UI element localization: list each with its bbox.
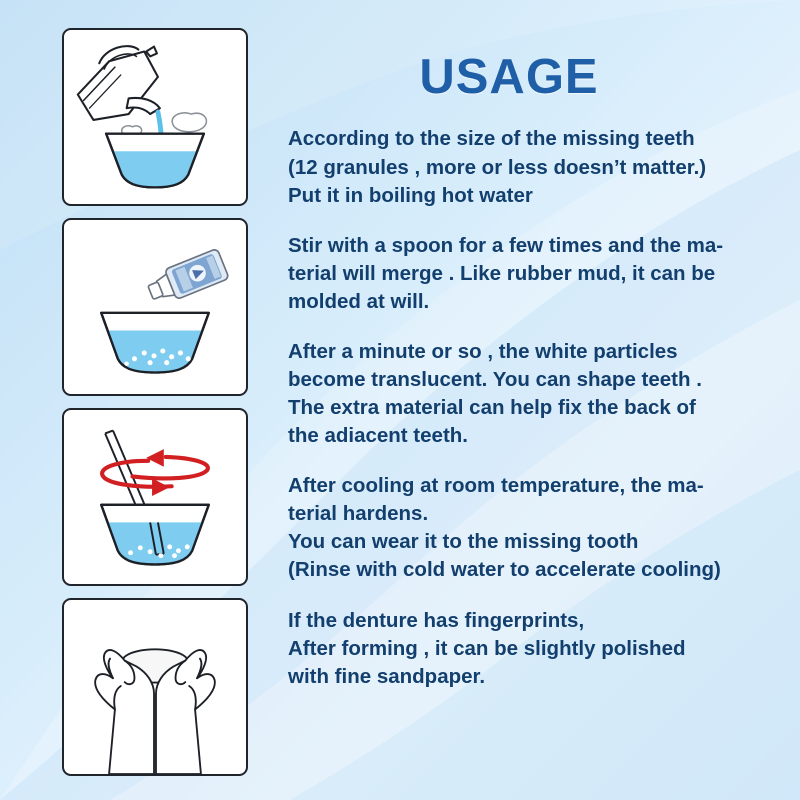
page-title: USAGE: [288, 52, 730, 103]
instruction-paragraph-5: If the denture has fingerprints, After f…: [288, 607, 780, 691]
instruction-paragraph-4: After cooling at room temperature, the m…: [288, 472, 780, 584]
text-column: USAGE According to the size of the missi…: [288, 52, 780, 691]
panel-mold: [62, 598, 248, 776]
kettle-icon: [78, 46, 160, 120]
instruction-paragraph-2: Stir with a spoon for a few times and th…: [288, 232, 780, 316]
instruction-paragraph-1: According to the size of the missing tee…: [288, 125, 780, 209]
illustration-panel-list: [62, 28, 248, 776]
infographic-page: USAGE According to the size of the missi…: [0, 0, 800, 800]
bowl-icon: [106, 134, 204, 188]
instruction-paragraph-3: After a minute or so , the white particl…: [288, 338, 780, 450]
granule-bottle-illustration: [64, 220, 246, 394]
stirring-illustration: [64, 410, 246, 584]
hands-molding-illustration: [64, 600, 246, 774]
panel-stir: [62, 408, 248, 586]
panel-add-granules: [62, 218, 248, 396]
granule-bottle-icon: [145, 248, 230, 307]
bowl-icon: [101, 505, 209, 565]
bowl-icon: [101, 313, 209, 373]
kettle-pour-illustration: [64, 30, 246, 204]
panel-pour-water: [62, 28, 248, 206]
